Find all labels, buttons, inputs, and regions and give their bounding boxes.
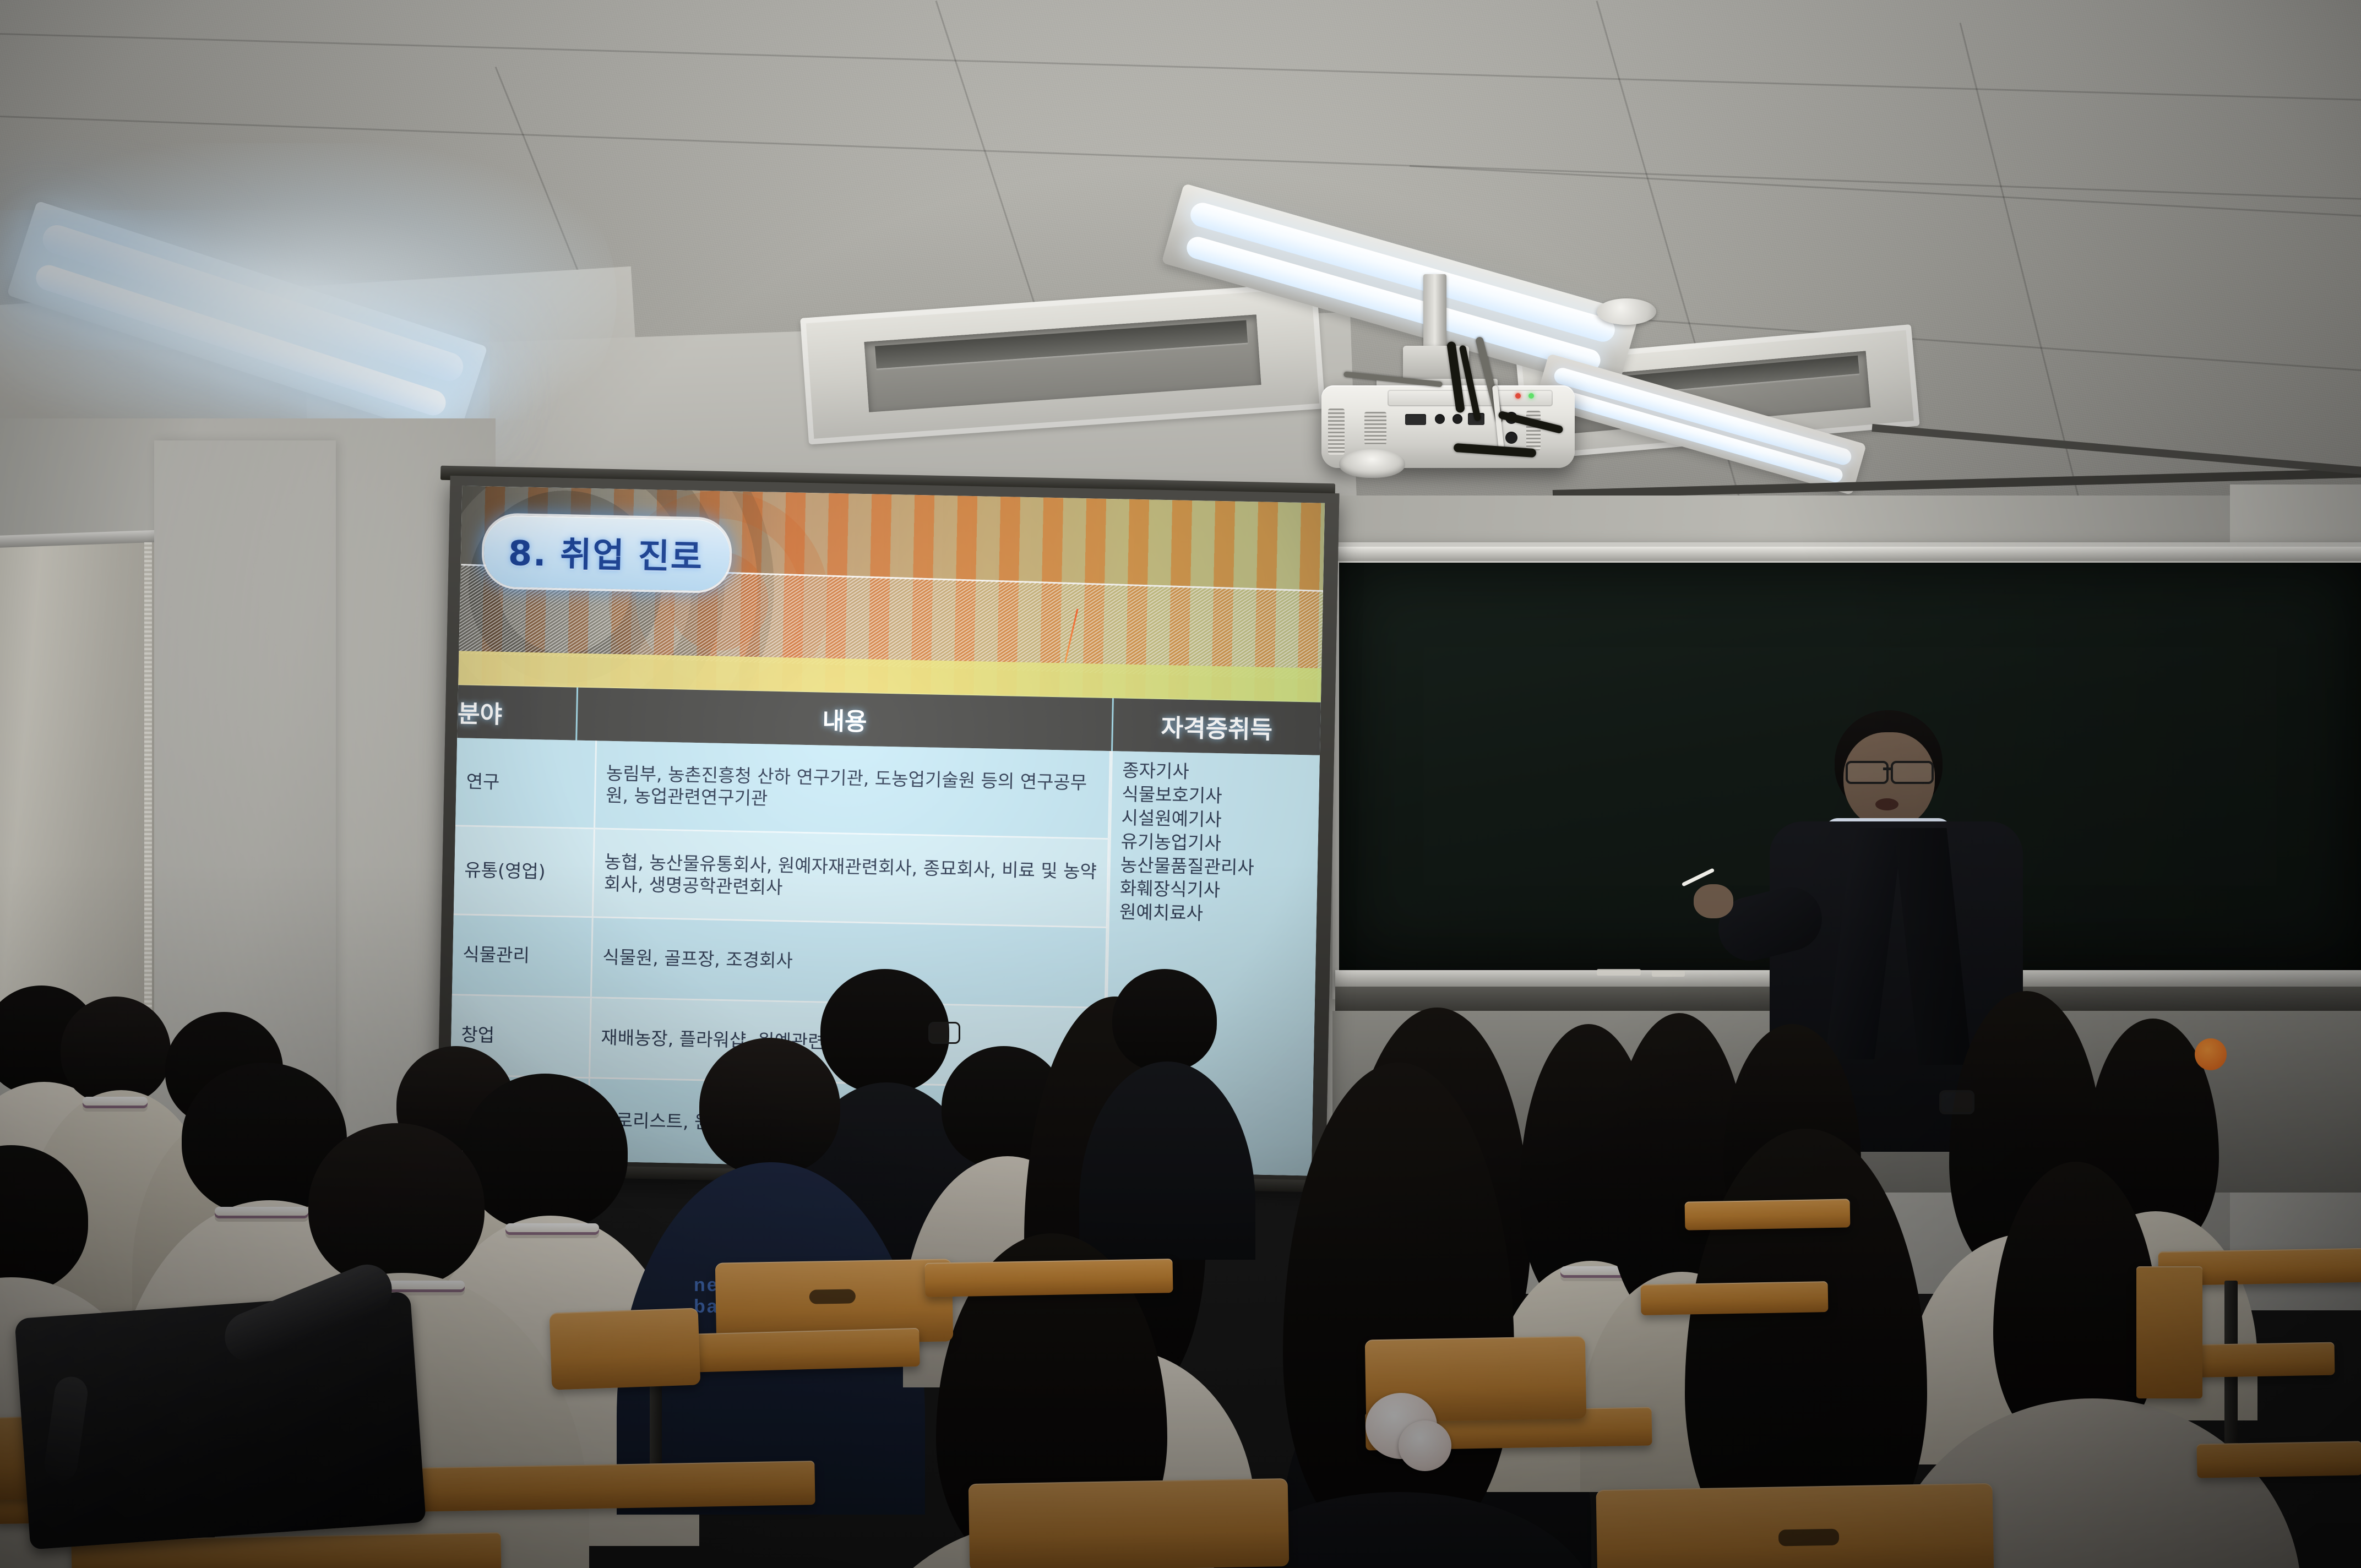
- chalkboard-top-rail: [1335, 547, 2361, 561]
- smoke-detector-icon: [1597, 298, 1656, 325]
- row-content: 농협, 농산물유통회사, 원예자재관련회사, 종묘회사, 비료 및 농약회사, …: [594, 829, 1109, 927]
- chalk-piece[interactable]: [1597, 969, 1641, 976]
- lecturer-mouth: [1875, 798, 1898, 810]
- slide-title: 8. 취업 진로: [508, 525, 704, 579]
- projector-audio-port: [1435, 414, 1445, 424]
- projector-vent: [1526, 411, 1541, 450]
- glasses-icon: [1939, 1090, 1974, 1114]
- uniform-collar: [83, 1097, 148, 1106]
- glasses-icon: [1891, 761, 1934, 784]
- wooden-desk[interactable]: [1641, 1281, 1829, 1315]
- projector-audio-port: [1452, 414, 1462, 424]
- row-field: 연구: [455, 738, 597, 827]
- table-header-field: 분야: [457, 685, 578, 740]
- projector-status-led: [1515, 393, 1521, 399]
- glasses-icon: [1846, 761, 1889, 784]
- table-row: 유통(영업) 농협, 농산물유통회사, 원예자재관련회사, 종묘회사, 비료 및…: [454, 826, 1109, 928]
- projector-mount-pole: [1423, 274, 1446, 357]
- wooden-desk[interactable]: [1685, 1199, 1851, 1230]
- certification-list: 종자기사 식물보호기사 시설원예기사 유기농업기사 농산물품질관리사 화훼장식기…: [1109, 751, 1325, 936]
- chair-handle-slot: [809, 1289, 856, 1304]
- projector-speaker-grille: [1364, 412, 1386, 445]
- wooden-desk[interactable]: [2196, 1441, 2361, 1478]
- lecturer-hand: [1694, 884, 1733, 918]
- slide-title-badge: 8. 취업 진로: [483, 515, 731, 591]
- blind-chain: [144, 542, 152, 1065]
- projector-power-led: [1528, 393, 1534, 399]
- hair-scrunchie: [2195, 1038, 2227, 1070]
- classroom-photo: 8. 취업 진로 분야 내용 자격증취득 연구 농림부, 농촌진흥청 산하 연구…: [0, 0, 2361, 1568]
- wooden-desk[interactable]: [924, 1259, 1173, 1297]
- projector-vga-port: [1405, 414, 1426, 425]
- projector-vent: [1328, 409, 1345, 455]
- wooden-desk[interactable]: [379, 1461, 815, 1512]
- student-hair: [308, 1123, 485, 1288]
- projector-video-port: [1505, 432, 1517, 444]
- table-row: 연구 농림부, 농촌진흥청 산하 연구기관, 도농업기술원 등의 연구공무원, …: [455, 738, 1111, 840]
- hair-flower-accessory: [1399, 1420, 1451, 1471]
- glasses-bridge-icon: [1883, 767, 1893, 770]
- wooden-chair-back[interactable]: [969, 1478, 1290, 1568]
- table-header-certification: 자격증취득: [1113, 698, 1321, 755]
- projector-lens: [1339, 449, 1405, 478]
- wooden-chair-back[interactable]: [1596, 1483, 1994, 1568]
- chalk-piece[interactable]: [1652, 970, 1685, 977]
- glasses-icon: [928, 1022, 960, 1044]
- student-hair: [699, 1038, 840, 1175]
- desk-side-panel: [2136, 1266, 2202, 1398]
- row-content: 농림부, 농촌진흥청 산하 연구기관, 도농업기술원 등의 연구공무원, 농업관…: [595, 741, 1111, 838]
- table-row: 식물관리 식물원, 골프장, 조경회사: [452, 915, 1108, 1009]
- student-hair: [61, 997, 171, 1104]
- uniform-collar: [505, 1223, 599, 1232]
- wooden-desk[interactable]: [2180, 1342, 2335, 1378]
- row-field: 유통(영업): [454, 826, 595, 916]
- row-field: 식물관리: [452, 915, 594, 997]
- uniform-collar: [215, 1207, 308, 1216]
- student-hair: [463, 1074, 628, 1231]
- wooden-chair-back[interactable]: [550, 1308, 701, 1390]
- student-hair: [1112, 969, 1217, 1071]
- chair-handle-slot: [1778, 1529, 1840, 1547]
